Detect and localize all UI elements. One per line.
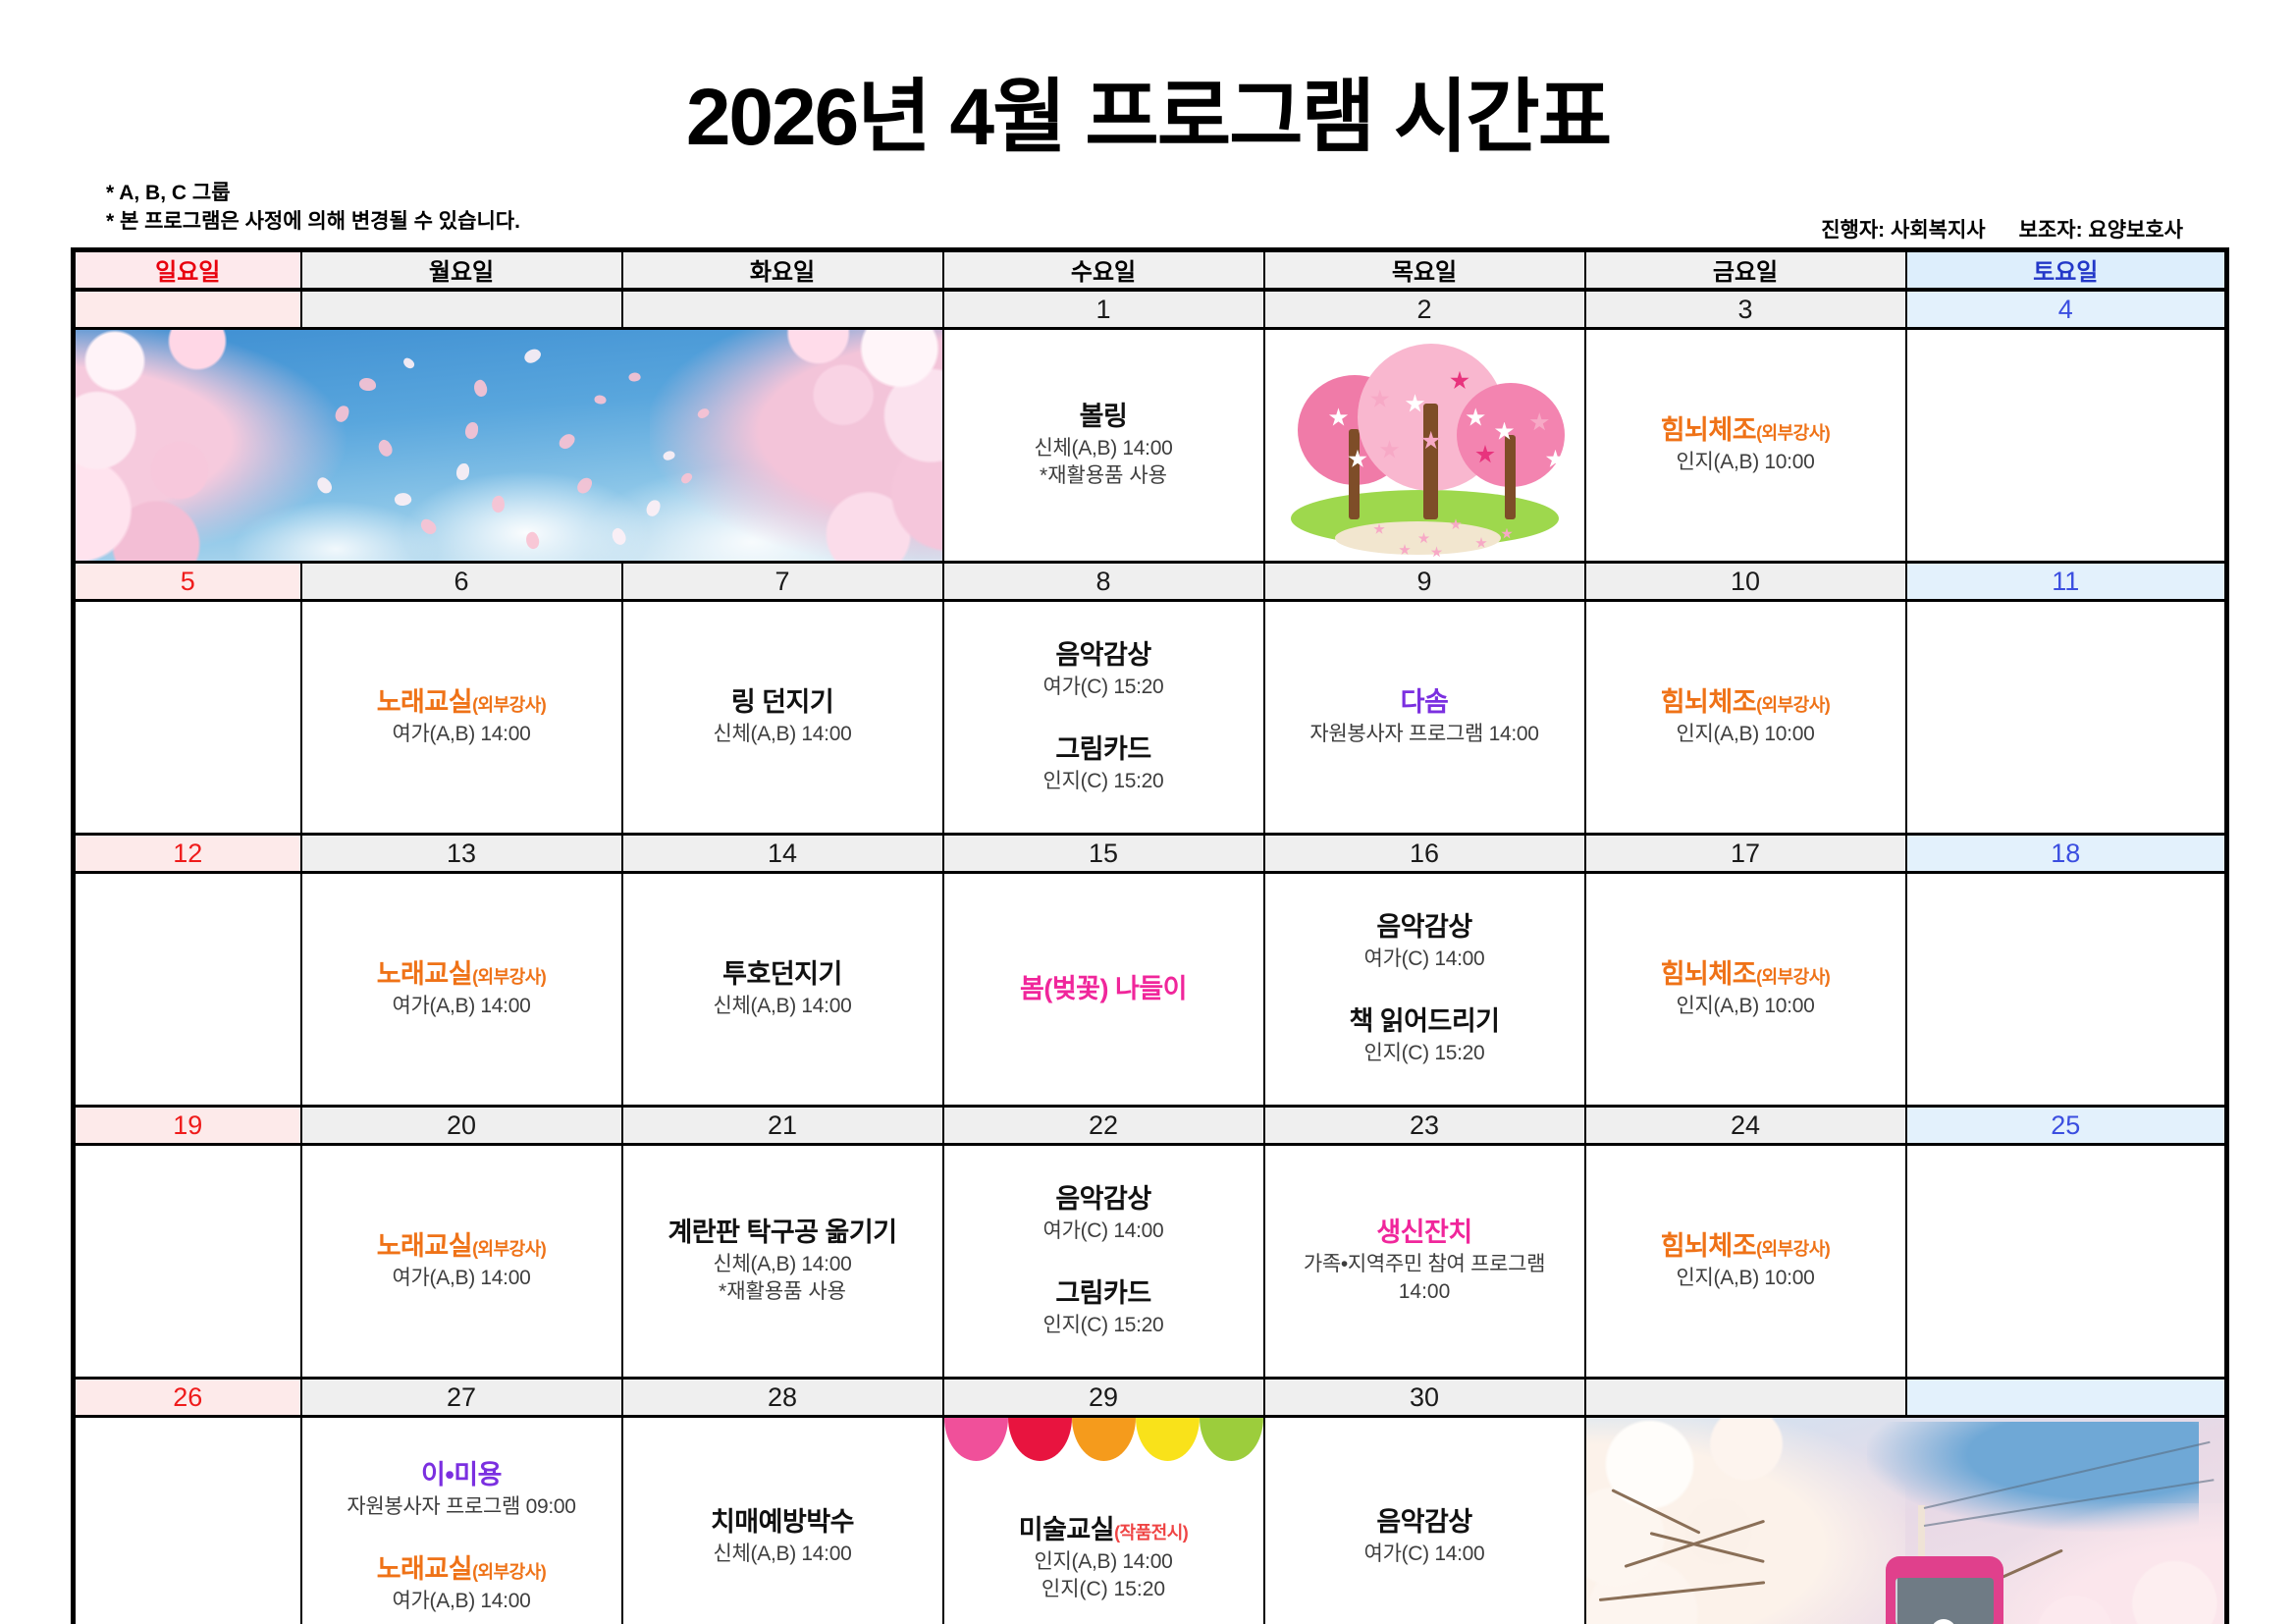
program-entry[interactable]: 치매예방박수신체(A,B) 14:00 (629, 1506, 936, 1567)
program-name: 음악감상 (950, 639, 1257, 672)
day-header-0: 일요일 (74, 250, 301, 290)
program-entry[interactable]: 그림카드인지(C) 15:20 (950, 733, 1257, 794)
program-entry[interactable]: 미술교실(작품전시)인지(A,B) 14:00인지(C) 15:20 (950, 1514, 1257, 1601)
program-entry[interactable]: 음악감상여가(C) 15:20 (950, 639, 1257, 700)
cherry-blossom-sky-photo (76, 330, 942, 561)
program-detail: 신체(A,B) 14:00 (950, 436, 1257, 461)
date-cell-empty (301, 290, 622, 329)
program-detail: 자원봉사자 프로그램 14:00 (1271, 722, 1578, 747)
date-cell-14[interactable]: 14 (622, 834, 943, 872)
program-detail: 여가(C) 15:20 (950, 675, 1257, 700)
program-tag: (외부강사) (1756, 967, 1830, 987)
program-entry[interactable]: 노래교실(외부강사)여가(A,B) 14:00 (308, 958, 615, 1019)
date-cell-1[interactable]: 1 (943, 290, 1264, 329)
date-cell-8[interactable]: 8 (943, 562, 1264, 600)
blossom-branch-left (74, 328, 351, 562)
week-content-row: 볼링신체(A,B) 14:00*재활용품 사용힘뇌체조(외부강사)인지(A,B)… (74, 328, 2227, 562)
note-line-1: * A, B, C 그룹 (106, 180, 520, 208)
cell-content: 투호던지기신체(A,B) 14:00 (629, 958, 936, 1019)
falling-petal (523, 530, 541, 551)
day-cell[interactable]: 음악감상여가(C) 14:00 (1264, 1416, 1585, 1624)
cell-content: 음악감상여가(C) 14:00그림카드인지(C) 15:20 (950, 1183, 1257, 1337)
program-entry[interactable]: 음악감상여가(C) 14:00 (1271, 911, 1578, 972)
date-cell-3[interactable]: 3 (1585, 290, 1906, 329)
date-cell-7[interactable]: 7 (622, 562, 943, 600)
date-cell-17[interactable]: 17 (1585, 834, 1906, 872)
program-name: 미술교실(작품전시) (950, 1514, 1257, 1546)
page-title: 2026년 4월 프로그램 시간표 (0, 51, 2296, 168)
garland-scallop (1136, 1418, 1200, 1461)
cell-content: 노래교실(외부강사)여가(A,B) 14:00 (308, 686, 615, 747)
program-entry[interactable]: 그림카드인지(C) 15:20 (950, 1277, 1257, 1338)
date-cell-21[interactable]: 21 (622, 1106, 943, 1144)
program-tag: (외부강사) (1756, 695, 1830, 715)
program-tag: (외부강사) (472, 1239, 546, 1259)
program-entry[interactable]: 노래교실(외부강사)여가(A,B) 14:00 (308, 1553, 615, 1614)
staff-roles: 진행자: 사회복지사보조자: 요양보호사 (1821, 214, 2183, 244)
program-detail: 신체(A,B) 14:00 (629, 722, 936, 747)
week-content-row: 노래교실(외부강사)여가(A,B) 14:00투호던지기신체(A,B) 14:0… (74, 872, 2227, 1106)
day-cell-empty (74, 872, 301, 1106)
program-name: 음악감상 (1271, 911, 1578, 944)
program-entry[interactable]: 힘뇌체조(외부강사)인지(A,B) 10:00 (1592, 414, 1899, 475)
program-name: 치매예방박수 (629, 1506, 936, 1539)
program-name: 음악감상 (950, 1183, 1257, 1216)
day-cell-empty (74, 1144, 301, 1378)
day-cell-empty (74, 1416, 301, 1624)
day-cell[interactable]: 힘뇌체조(외부강사)인지(A,B) 10:00 (1585, 872, 1906, 1106)
cell-content: 힘뇌체조(외부강사)인지(A,B) 10:00 (1592, 414, 1899, 475)
date-cell-16[interactable]: 16 (1264, 834, 1585, 872)
falling-petal (627, 371, 641, 383)
program-detail: 인지(C) 15:20 (1271, 1041, 1578, 1066)
day-header-3: 수요일 (943, 250, 1264, 290)
date-cell-29[interactable]: 29 (943, 1378, 1264, 1416)
date-cell-5[interactable]: 5 (74, 562, 301, 600)
program-name: 다솜 (1271, 686, 1578, 719)
cell-content: 노래교실(외부강사)여가(A,B) 14:00 (308, 1230, 615, 1291)
week-content-row: 노래교실(외부강사)여가(A,B) 14:00링 던지기신체(A,B) 14:0… (74, 600, 2227, 834)
day-cell[interactable]: 치매예방박수신체(A,B) 14:00 (622, 1416, 943, 1624)
program-entry[interactable]: 이•미용자원봉사자 프로그램 09:00 (308, 1459, 615, 1520)
day-cell[interactable]: 힘뇌체조(외부강사)인지(A,B) 10:00 (1585, 600, 1906, 834)
garland-scallop (1008, 1418, 1072, 1461)
program-entry[interactable]: 볼링신체(A,B) 14:00*재활용품 사용 (950, 401, 1257, 488)
falling-petal (575, 475, 594, 496)
cell-content: 음악감상여가(C) 14:00 (1271, 1506, 1578, 1567)
day-cell[interactable]: 생신잔치가족•지역주민 참여 프로그램14:00 (1264, 1144, 1585, 1378)
falling-petal (490, 495, 506, 514)
path-ground (1335, 521, 1501, 555)
cell-content: 미술교실(작품전시)인지(A,B) 14:00인지(C) 15:20 (950, 1514, 1257, 1601)
decoration-cell (1585, 1416, 2227, 1624)
date-cell-12[interactable]: 12 (74, 834, 301, 872)
program-entry[interactable]: 봄(벚꽃) 나들이 (950, 973, 1257, 1005)
program-name: 투호던지기 (629, 958, 936, 991)
program-name: 봄(벚꽃) 나들이 (950, 973, 1257, 1005)
date-cell-25[interactable]: 25 (1906, 1106, 2227, 1144)
cherry-tree-illustration (1265, 330, 1584, 561)
program-note: *재활용품 사용 (950, 463, 1257, 489)
falling-petal (418, 517, 439, 537)
program-name: 그림카드 (950, 733, 1257, 766)
week-dates-row: 1234 (74, 290, 2227, 329)
program-detail: 인지(C) 15:20 (950, 1313, 1257, 1338)
program-detail: 가족•지역주민 참여 프로그램 (1271, 1252, 1578, 1277)
date-cell-26[interactable]: 26 (74, 1378, 301, 1416)
falling-petal (456, 463, 470, 480)
week-dates-row: 2627282930 (74, 1378, 2227, 1416)
program-entry[interactable]: 음악감상여가(C) 14:00 (1271, 1506, 1578, 1567)
date-cell-22[interactable]: 22 (943, 1106, 1264, 1144)
program-tag: (작품전시) (1114, 1523, 1188, 1543)
day-header-2: 화요일 (622, 250, 943, 290)
day-cell[interactable]: 힘뇌체조(외부강사)인지(A,B) 10:00 (1585, 1144, 1906, 1378)
day-cell[interactable]: 힘뇌체조(외부강사)인지(A,B) 10:00 (1585, 328, 1906, 562)
day-cell-empty (1906, 328, 2227, 562)
program-entry[interactable]: 책 읽어드리기인지(C) 15:20 (1271, 1005, 1578, 1066)
program-entry[interactable]: 음악감상여가(C) 14:00 (950, 1183, 1257, 1244)
falling-petal (393, 491, 411, 507)
program-name: 볼링 (950, 401, 1257, 433)
rainbow-garland (944, 1418, 1263, 1461)
falling-petal (609, 525, 628, 546)
week-dates-row: 19202122232425 (74, 1106, 2227, 1144)
program-entry[interactable]: 힘뇌체조(외부강사)인지(A,B) 10:00 (1592, 958, 1899, 1019)
date-cell-24[interactable]: 24 (1585, 1106, 1906, 1144)
pink-train-cherry-blossom-photo (1586, 1418, 2225, 1624)
date-cell-empty (1906, 1378, 2227, 1416)
program-name: 책 읽어드리기 (1271, 1005, 1578, 1038)
day-cell[interactable]: 노래교실(외부강사)여가(A,B) 14:00 (301, 600, 622, 834)
program-name: 노래교실(외부강사) (308, 958, 615, 991)
week-content-row: 이•미용자원봉사자 프로그램 09:00노래교실(외부강사)여가(A,B) 14… (74, 1416, 2227, 1624)
date-cell-6[interactable]: 6 (301, 562, 622, 600)
decoration-cell (1264, 328, 1585, 562)
date-cell-27[interactable]: 27 (301, 1378, 622, 1416)
program-detail: 여가(A,B) 14:00 (308, 1266, 615, 1291)
program-entry[interactable]: 투호던지기신체(A,B) 14:00 (629, 958, 936, 1019)
date-cell-11[interactable]: 11 (1906, 562, 2227, 600)
program-detail: 신체(A,B) 14:00 (629, 994, 936, 1019)
program-detail: 인지(C) 15:20 (950, 769, 1257, 794)
date-cell-18[interactable]: 18 (1906, 834, 2227, 872)
program-name: 힘뇌체조(외부강사) (1592, 686, 1899, 719)
program-tag: (외부강사) (472, 1562, 546, 1582)
blossom-mass (1585, 1416, 1905, 1624)
falling-petal (375, 438, 395, 459)
day-cell[interactable]: 노래교실(외부강사)여가(A,B) 14:00 (301, 1144, 622, 1378)
day-cell-empty (1906, 1144, 2227, 1378)
tram-window (1896, 1578, 1994, 1624)
tree-trunk (1349, 429, 1360, 519)
falling-petal (471, 378, 490, 399)
program-detail: 여가(C) 14:00 (1271, 1542, 1578, 1567)
program-name: 음악감상 (1271, 1506, 1578, 1539)
program-tag: (외부강사) (1756, 423, 1830, 443)
date-cell-4[interactable]: 4 (1906, 290, 2227, 329)
date-cell-2[interactable]: 2 (1264, 290, 1585, 329)
tree-trunk (1505, 435, 1516, 519)
garland-scallop (944, 1418, 1008, 1461)
program-entry[interactable]: 링 던지기신체(A,B) 14:00 (629, 686, 936, 747)
staff-assistant: 보조자: 요양보호사 (2019, 219, 2183, 242)
program-detail: 신체(A,B) 14:00 (629, 1542, 936, 1567)
date-cell-30[interactable]: 30 (1264, 1378, 1585, 1416)
program-note: *재활용품 사용 (629, 1279, 936, 1305)
cell-content: 치매예방박수신체(A,B) 14:00 (629, 1506, 936, 1567)
note-line-2: * 본 프로그램은 사정에 의해 변경될 수 있습니다. (106, 208, 520, 237)
date-cell-empty (622, 290, 943, 329)
program-name: 노래교실(외부강사) (308, 1230, 615, 1263)
day-cell-empty (1906, 600, 2227, 834)
date-cell-empty (1585, 1378, 1906, 1416)
cell-content: 생신잔치가족•지역주민 참여 프로그램14:00 (1271, 1217, 1578, 1304)
day-cell[interactable]: 투호던지기신체(A,B) 14:00 (622, 872, 943, 1106)
falling-petal (359, 377, 376, 390)
cell-content: 이•미용자원봉사자 프로그램 09:00노래교실(외부강사)여가(A,B) 14… (308, 1459, 615, 1613)
day-cell[interactable]: 음악감상여가(C) 14:00그림카드인지(C) 15:20 (943, 1144, 1264, 1378)
date-cell-9[interactable]: 9 (1264, 562, 1585, 600)
program-entry[interactable]: 계란판 탁구공 옮기기신체(A,B) 14:00*재활용품 사용 (629, 1217, 936, 1304)
day-cell[interactable]: 링 던지기신체(A,B) 14:00 (622, 600, 943, 834)
cell-content: 볼링신체(A,B) 14:00*재활용품 사용 (950, 401, 1257, 488)
program-detail: 인지(A,B) 10:00 (1592, 722, 1899, 747)
falling-petal (594, 396, 606, 405)
program-name: 노래교실(외부강사) (308, 1553, 615, 1586)
garland-scallop (1200, 1418, 1263, 1461)
day-header-4: 목요일 (1264, 250, 1585, 290)
program-detail: 인지(A,B) 10:00 (1592, 994, 1899, 1019)
program-detail: 인지(A,B) 14:00 (950, 1549, 1257, 1575)
falling-petal (557, 431, 577, 452)
program-detail: 여가(A,B) 14:00 (308, 994, 615, 1019)
decoration-cell (74, 328, 943, 562)
day-cell[interactable]: 다솜자원봉사자 프로그램 14:00 (1264, 600, 1585, 834)
program-tag: (외부강사) (472, 967, 546, 987)
day-cell-empty (74, 600, 301, 834)
day-cell[interactable]: 음악감상여가(C) 15:20그림카드인지(C) 15:20 (943, 600, 1264, 834)
cell-content: 음악감상여가(C) 15:20그림카드인지(C) 15:20 (950, 639, 1257, 793)
program-name: 생신잔치 (1271, 1217, 1578, 1249)
day-cell-with-garland[interactable]: 미술교실(작품전시)인지(A,B) 14:00인지(C) 15:20 (943, 1416, 1264, 1624)
date-cell-23[interactable]: 23 (1264, 1106, 1585, 1144)
cell-content: 힘뇌체조(외부강사)인지(A,B) 10:00 (1592, 958, 1899, 1019)
program-entry[interactable]: 힘뇌체조(외부강사)인지(A,B) 10:00 (1592, 686, 1899, 747)
program-detail: 인지(A,B) 10:00 (1592, 450, 1899, 475)
program-name: 힘뇌체조(외부강사) (1592, 414, 1899, 447)
pink-tram (1886, 1556, 2003, 1624)
program-entry[interactable]: 생신잔치가족•지역주민 참여 프로그램14:00 (1271, 1217, 1578, 1304)
calendar-body: 1234볼링신체(A,B) 14:00*재활용품 사용힘뇌체조(외부강사)인지(… (74, 290, 2227, 1624)
blossom-branch-right (650, 328, 943, 562)
day-header-1: 월요일 (301, 250, 622, 290)
date-cell-empty (74, 290, 301, 329)
program-note: 14:00 (1271, 1279, 1578, 1305)
week-content-row: 노래교실(외부강사)여가(A,B) 14:00계란판 탁구공 옮기기신체(A,B… (74, 1144, 2227, 1378)
program-detail: 인지(A,B) 10:00 (1592, 1266, 1899, 1291)
cell-content: 링 던지기신체(A,B) 14:00 (629, 686, 936, 747)
program-name: 노래교실(외부강사) (308, 686, 615, 719)
program-detail: 신체(A,B) 14:00 (629, 1252, 936, 1277)
day-cell[interactable]: 이•미용자원봉사자 프로그램 09:00노래교실(외부강사)여가(A,B) 14… (301, 1416, 622, 1624)
program-detail: 여가(A,B) 14:00 (308, 722, 615, 747)
garland-scallop (1072, 1418, 1136, 1461)
tree-trunk (1423, 404, 1438, 519)
cell-content: 노래교실(외부강사)여가(A,B) 14:00 (308, 958, 615, 1019)
cell-content: 계란판 탁구공 옮기기신체(A,B) 14:00*재활용품 사용 (629, 1217, 936, 1304)
cell-content: 다솜자원봉사자 프로그램 14:00 (1271, 686, 1578, 747)
day-header-6: 토요일 (1906, 250, 2227, 290)
notes-block: * A, B, C 그룹 * 본 프로그램은 사정에 의해 변경될 수 있습니다… (106, 180, 520, 237)
program-detail: 자원봉사자 프로그램 09:00 (308, 1494, 615, 1520)
day-cell[interactable]: 볼링신체(A,B) 14:00*재활용품 사용 (943, 328, 1264, 562)
cell-content: 힘뇌체조(외부강사)인지(A,B) 10:00 (1592, 686, 1899, 747)
program-note: 인지(C) 15:20 (950, 1577, 1257, 1602)
program-detail: 여가(C) 14:00 (1271, 947, 1578, 972)
falling-petal (522, 346, 543, 366)
week-dates-row: 12131415161718 (74, 834, 2227, 872)
day-cell[interactable]: 음악감상여가(C) 14:00책 읽어드리기인지(C) 15:20 (1264, 872, 1585, 1106)
program-name: 그림카드 (950, 1277, 1257, 1310)
day-header-5: 금요일 (1585, 250, 1906, 290)
date-cell-10[interactable]: 10 (1585, 562, 1906, 600)
program-tag: (외부강사) (1756, 1239, 1830, 1259)
program-name: 힘뇌체조(외부강사) (1592, 958, 1899, 991)
staff-leader: 진행자: 사회복지사 (1821, 219, 1985, 242)
week-dates-row: 567891011 (74, 562, 2227, 600)
falling-petal (465, 421, 479, 439)
day-cell[interactable]: 봄(벚꽃) 나들이 (943, 872, 1264, 1106)
program-detail: 여가(C) 14:00 (950, 1218, 1257, 1244)
date-cell-28[interactable]: 28 (622, 1378, 943, 1416)
program-name: 이•미용 (308, 1459, 615, 1491)
program-entry[interactable]: 다솜자원봉사자 프로그램 14:00 (1271, 686, 1578, 747)
cell-content: 봄(벚꽃) 나들이 (950, 973, 1257, 1005)
program-detail: 여가(A,B) 14:00 (308, 1589, 615, 1614)
date-cell-13[interactable]: 13 (301, 834, 622, 872)
program-calendar-table: 일요일월요일화요일수요일목요일금요일토요일 1234볼링신체(A,B) 14:0… (71, 247, 2229, 1624)
date-cell-20[interactable]: 20 (301, 1106, 622, 1144)
day-cell[interactable]: 계란판 탁구공 옮기기신체(A,B) 14:00*재활용품 사용 (622, 1144, 943, 1378)
program-entry[interactable]: 힘뇌체조(외부강사)인지(A,B) 10:00 (1592, 1230, 1899, 1291)
schedule-page: 2026년 4월 프로그램 시간표 * A, B, C 그룹 * 본 프로그램은… (0, 0, 2296, 1624)
program-name: 계란판 탁구공 옮기기 (629, 1217, 936, 1249)
day-cell[interactable]: 노래교실(외부강사)여가(A,B) 14:00 (301, 872, 622, 1106)
cell-content: 힘뇌체조(외부강사)인지(A,B) 10:00 (1592, 1230, 1899, 1291)
blossom-mass (1969, 1503, 2227, 1624)
day-cell-empty (1906, 872, 2227, 1106)
program-entry[interactable]: 노래교실(외부강사)여가(A,B) 14:00 (308, 686, 615, 747)
calendar-header: 일요일월요일화요일수요일목요일금요일토요일 (74, 250, 2227, 290)
program-name: 링 던지기 (629, 686, 936, 719)
falling-petal (401, 356, 416, 370)
date-cell-15[interactable]: 15 (943, 834, 1264, 872)
cell-content: 음악감상여가(C) 14:00책 읽어드리기인지(C) 15:20 (1271, 911, 1578, 1065)
date-cell-19[interactable]: 19 (74, 1106, 301, 1144)
program-entry[interactable]: 노래교실(외부강사)여가(A,B) 14:00 (308, 1230, 615, 1291)
program-name: 힘뇌체조(외부강사) (1592, 1230, 1899, 1263)
program-tag: (외부강사) (472, 695, 546, 715)
